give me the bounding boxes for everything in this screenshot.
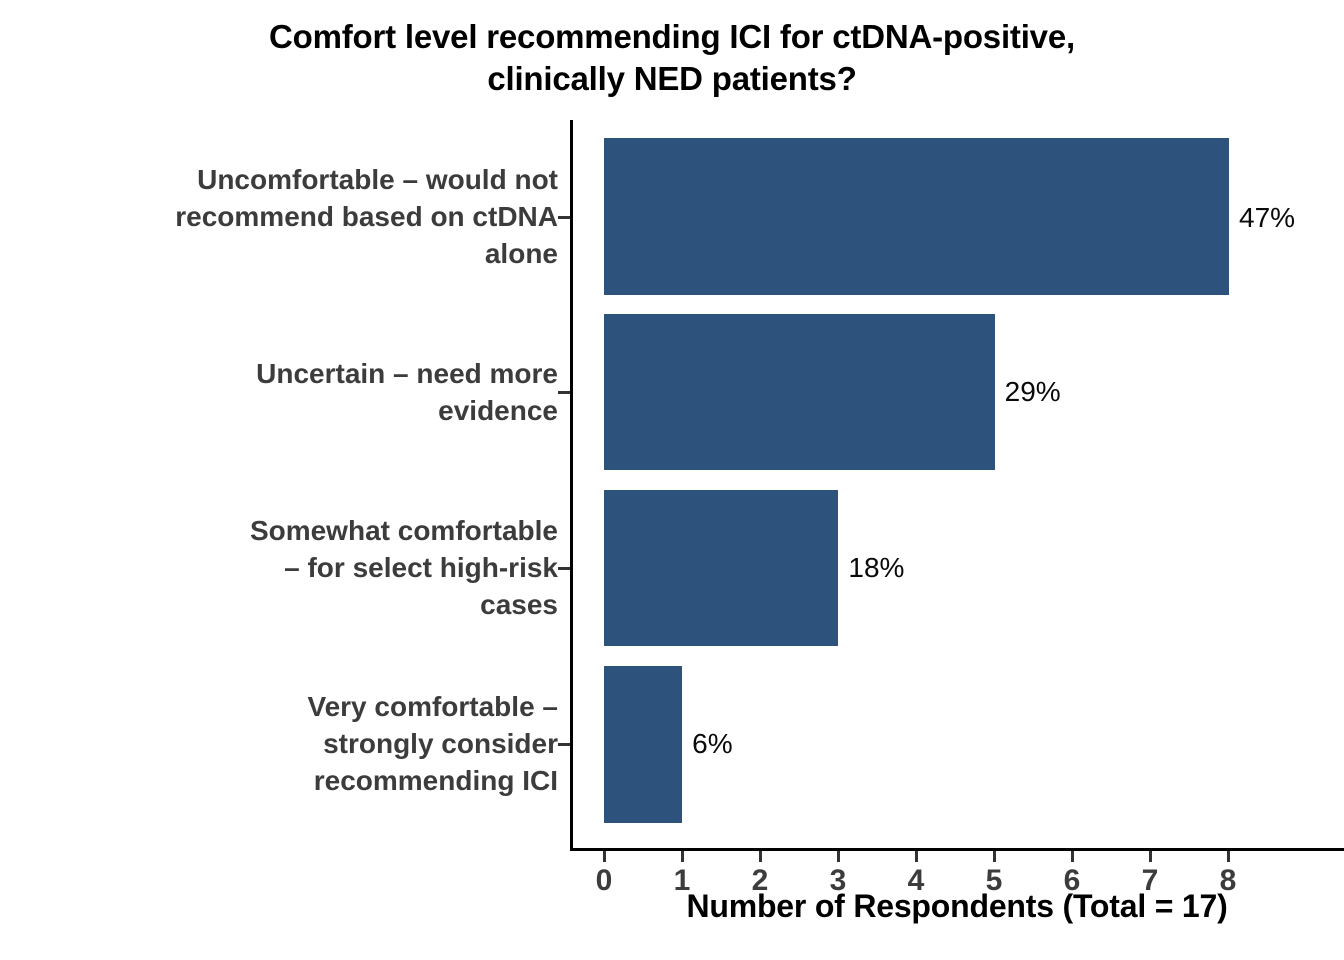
plot-area: 0 1 2 3 4 5 6 7 8 47% 29% 18% 6% xyxy=(570,120,1344,848)
x-tick-mark-7 xyxy=(1149,851,1152,862)
bar-chart-figure: Comfort level recommending ICI for ctDNA… xyxy=(0,0,1344,960)
y-axis-label-very-comfortable: Very comfortable – strongly consider rec… xyxy=(38,688,558,800)
bar-value-label-somewhat-comfortable: 18% xyxy=(848,552,904,584)
bar-uncertain[interactable] xyxy=(604,314,995,470)
x-axis-title: Number of Respondents (Total = 17) xyxy=(570,888,1344,925)
bar-value-label-uncertain: 29% xyxy=(1005,376,1061,408)
x-tick-mark-1 xyxy=(681,851,684,862)
x-tick-mark-6 xyxy=(1071,851,1074,862)
y-tick-mark-4 xyxy=(558,743,570,746)
bar-very-comfortable[interactable] xyxy=(604,666,682,823)
bar-somewhat-comfortable[interactable] xyxy=(604,490,838,646)
x-tick-mark-2 xyxy=(759,851,762,862)
y-tick-mark-1 xyxy=(558,216,570,219)
y-tick-mark-2 xyxy=(558,391,570,394)
y-axis-category-labels: Uncomfortable – would not recommend base… xyxy=(26,120,558,848)
x-tick-mark-5 xyxy=(993,851,996,862)
chart-title: Comfort level recommending ICI for ctDNA… xyxy=(0,16,1344,100)
x-tick-mark-4 xyxy=(915,851,918,862)
bar-value-label-very-comfortable: 6% xyxy=(692,728,732,760)
bar-uncomfortable[interactable] xyxy=(604,138,1229,295)
y-axis-label-somewhat-comfortable: Somewhat comfortable – for select high-r… xyxy=(38,512,558,624)
y-axis-line xyxy=(570,120,573,848)
y-axis-label-uncertain: Uncertain – need more evidence xyxy=(38,355,558,429)
x-tick-mark-0 xyxy=(603,851,606,862)
y-tick-mark-3 xyxy=(558,567,570,570)
bar-value-label-uncomfortable: 47% xyxy=(1239,202,1295,234)
y-axis-label-uncomfortable: Uncomfortable – would not recommend base… xyxy=(38,161,558,273)
x-tick-mark-3 xyxy=(837,851,840,862)
x-tick-mark-8 xyxy=(1227,851,1230,862)
